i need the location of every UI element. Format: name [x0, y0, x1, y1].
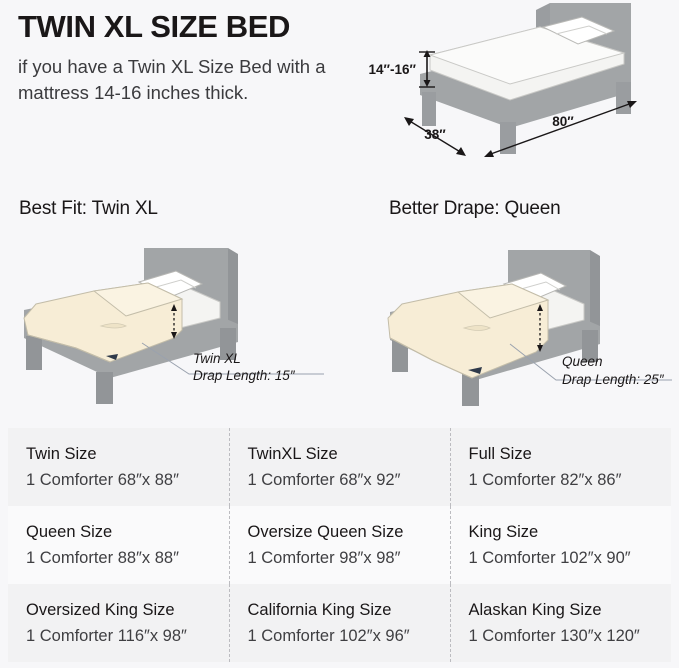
table-cell: Twin Size 1 Comforter 68″x 88″ [8, 428, 229, 506]
annotation-line2: Drap Length: 15″ [193, 368, 296, 383]
size-dimensions: 1 Comforter 68″x 92″ [248, 469, 436, 491]
table-row: Oversized King Size 1 Comforter 116″x 98… [8, 584, 671, 662]
size-dimensions: 1 Comforter 82″x 86″ [469, 469, 658, 491]
table-cell: Full Size 1 Comforter 82″x 86″ [450, 428, 671, 506]
bed-leg-front-left [422, 92, 436, 126]
table-cell: Oversize Queen Size 1 Comforter 98″x 98″ [229, 506, 450, 584]
bed-illustration-queen-drape: Queen Drap Length: 25″ [376, 238, 679, 418]
size-dimensions: 1 Comforter 116″x 98″ [26, 625, 215, 647]
size-name: Full Size [469, 443, 658, 465]
table-cell: California King Size 1 Comforter 102″x 9… [229, 584, 450, 662]
bed-dimensions-diagram: 14″-16″ 38″ 80″ [360, 0, 679, 175]
size-name: Queen Size [26, 521, 215, 543]
height-arrow-head-top [424, 50, 431, 57]
table-body: Twin Size 1 Comforter 68″x 88″ TwinXL Si… [8, 428, 671, 662]
size-dimensions: 1 Comforter 68″x 88″ [26, 469, 215, 491]
width-dimension-label: 38″ [424, 127, 446, 142]
size-name: Twin Size [26, 443, 215, 465]
size-dimensions: 1 Comforter 88″x 88″ [26, 547, 215, 569]
page-header: TWIN XL SIZE BED if you have a Twin XL S… [0, 0, 360, 106]
annotation-line1: Queen [562, 354, 603, 369]
bed-leg-back-right [616, 82, 631, 114]
page-subtitle: if you have a Twin XL Size Bed with a ma… [18, 54, 340, 105]
table-cell: TwinXL Size 1 Comforter 68″x 92″ [229, 428, 450, 506]
table-cell: Oversized King Size 1 Comforter 116″x 98… [8, 584, 229, 662]
bed-leg-left [26, 336, 42, 370]
bed-twinxl-svg: Twin XL Drap Length: 15″ [6, 238, 342, 418]
annotation-line1: Twin XL [193, 351, 241, 366]
bed-queen-svg: Queen Drap Length: 25″ [376, 238, 679, 418]
table-cell: King Size 1 Comforter 102″x 90″ [450, 506, 671, 584]
size-dimensions: 1 Comforter 102″x 90″ [469, 547, 658, 569]
bed-leg-front [96, 372, 113, 404]
bed-leg-front [462, 374, 479, 406]
bed-illustration-twin-xl: Twin XL Drap Length: 15″ [6, 238, 342, 418]
size-name: California King Size [248, 599, 436, 621]
width-arrow-head-start [404, 117, 414, 126]
size-dimensions: 1 Comforter 130″x 120″ [469, 625, 658, 647]
size-name: Alaskan King Size [469, 599, 658, 621]
length-arrow-head-start [484, 150, 494, 157]
size-name: King Size [469, 521, 658, 543]
annotation-line2: Drap Length: 25″ [562, 372, 665, 387]
table-cell: Alaskan King Size 1 Comforter 130″x 120″ [450, 584, 671, 662]
size-name: Oversized King Size [26, 599, 215, 621]
page-title: TWIN XL SIZE BED [18, 10, 360, 43]
section-heading-better-drape: Better Drape: Queen [389, 198, 561, 220]
size-dimensions: 1 Comforter 98″x 98″ [248, 547, 436, 569]
bed-dimensions-svg: 14″-16″ 38″ 80″ [360, 0, 679, 175]
comforter-size-table: Twin Size 1 Comforter 68″x 88″ TwinXL Si… [8, 428, 671, 662]
table-row: Queen Size 1 Comforter 88″x 88″ Oversize… [8, 506, 671, 584]
table-cell: Queen Size 1 Comforter 88″x 88″ [8, 506, 229, 584]
headboard-side [228, 248, 238, 332]
width-arrow-head-end [456, 147, 466, 156]
section-heading-best-fit: Best Fit: Twin XL [19, 198, 158, 220]
table-row: Twin Size 1 Comforter 68″x 88″ TwinXL Si… [8, 428, 671, 506]
height-dimension-label: 14″-16″ [369, 62, 417, 77]
headboard-side [590, 250, 600, 334]
length-dimension-label: 80″ [552, 114, 574, 129]
size-name: TwinXL Size [248, 443, 436, 465]
size-dimensions: 1 Comforter 102″x 96″ [248, 625, 436, 647]
size-name: Oversize Queen Size [248, 521, 436, 543]
